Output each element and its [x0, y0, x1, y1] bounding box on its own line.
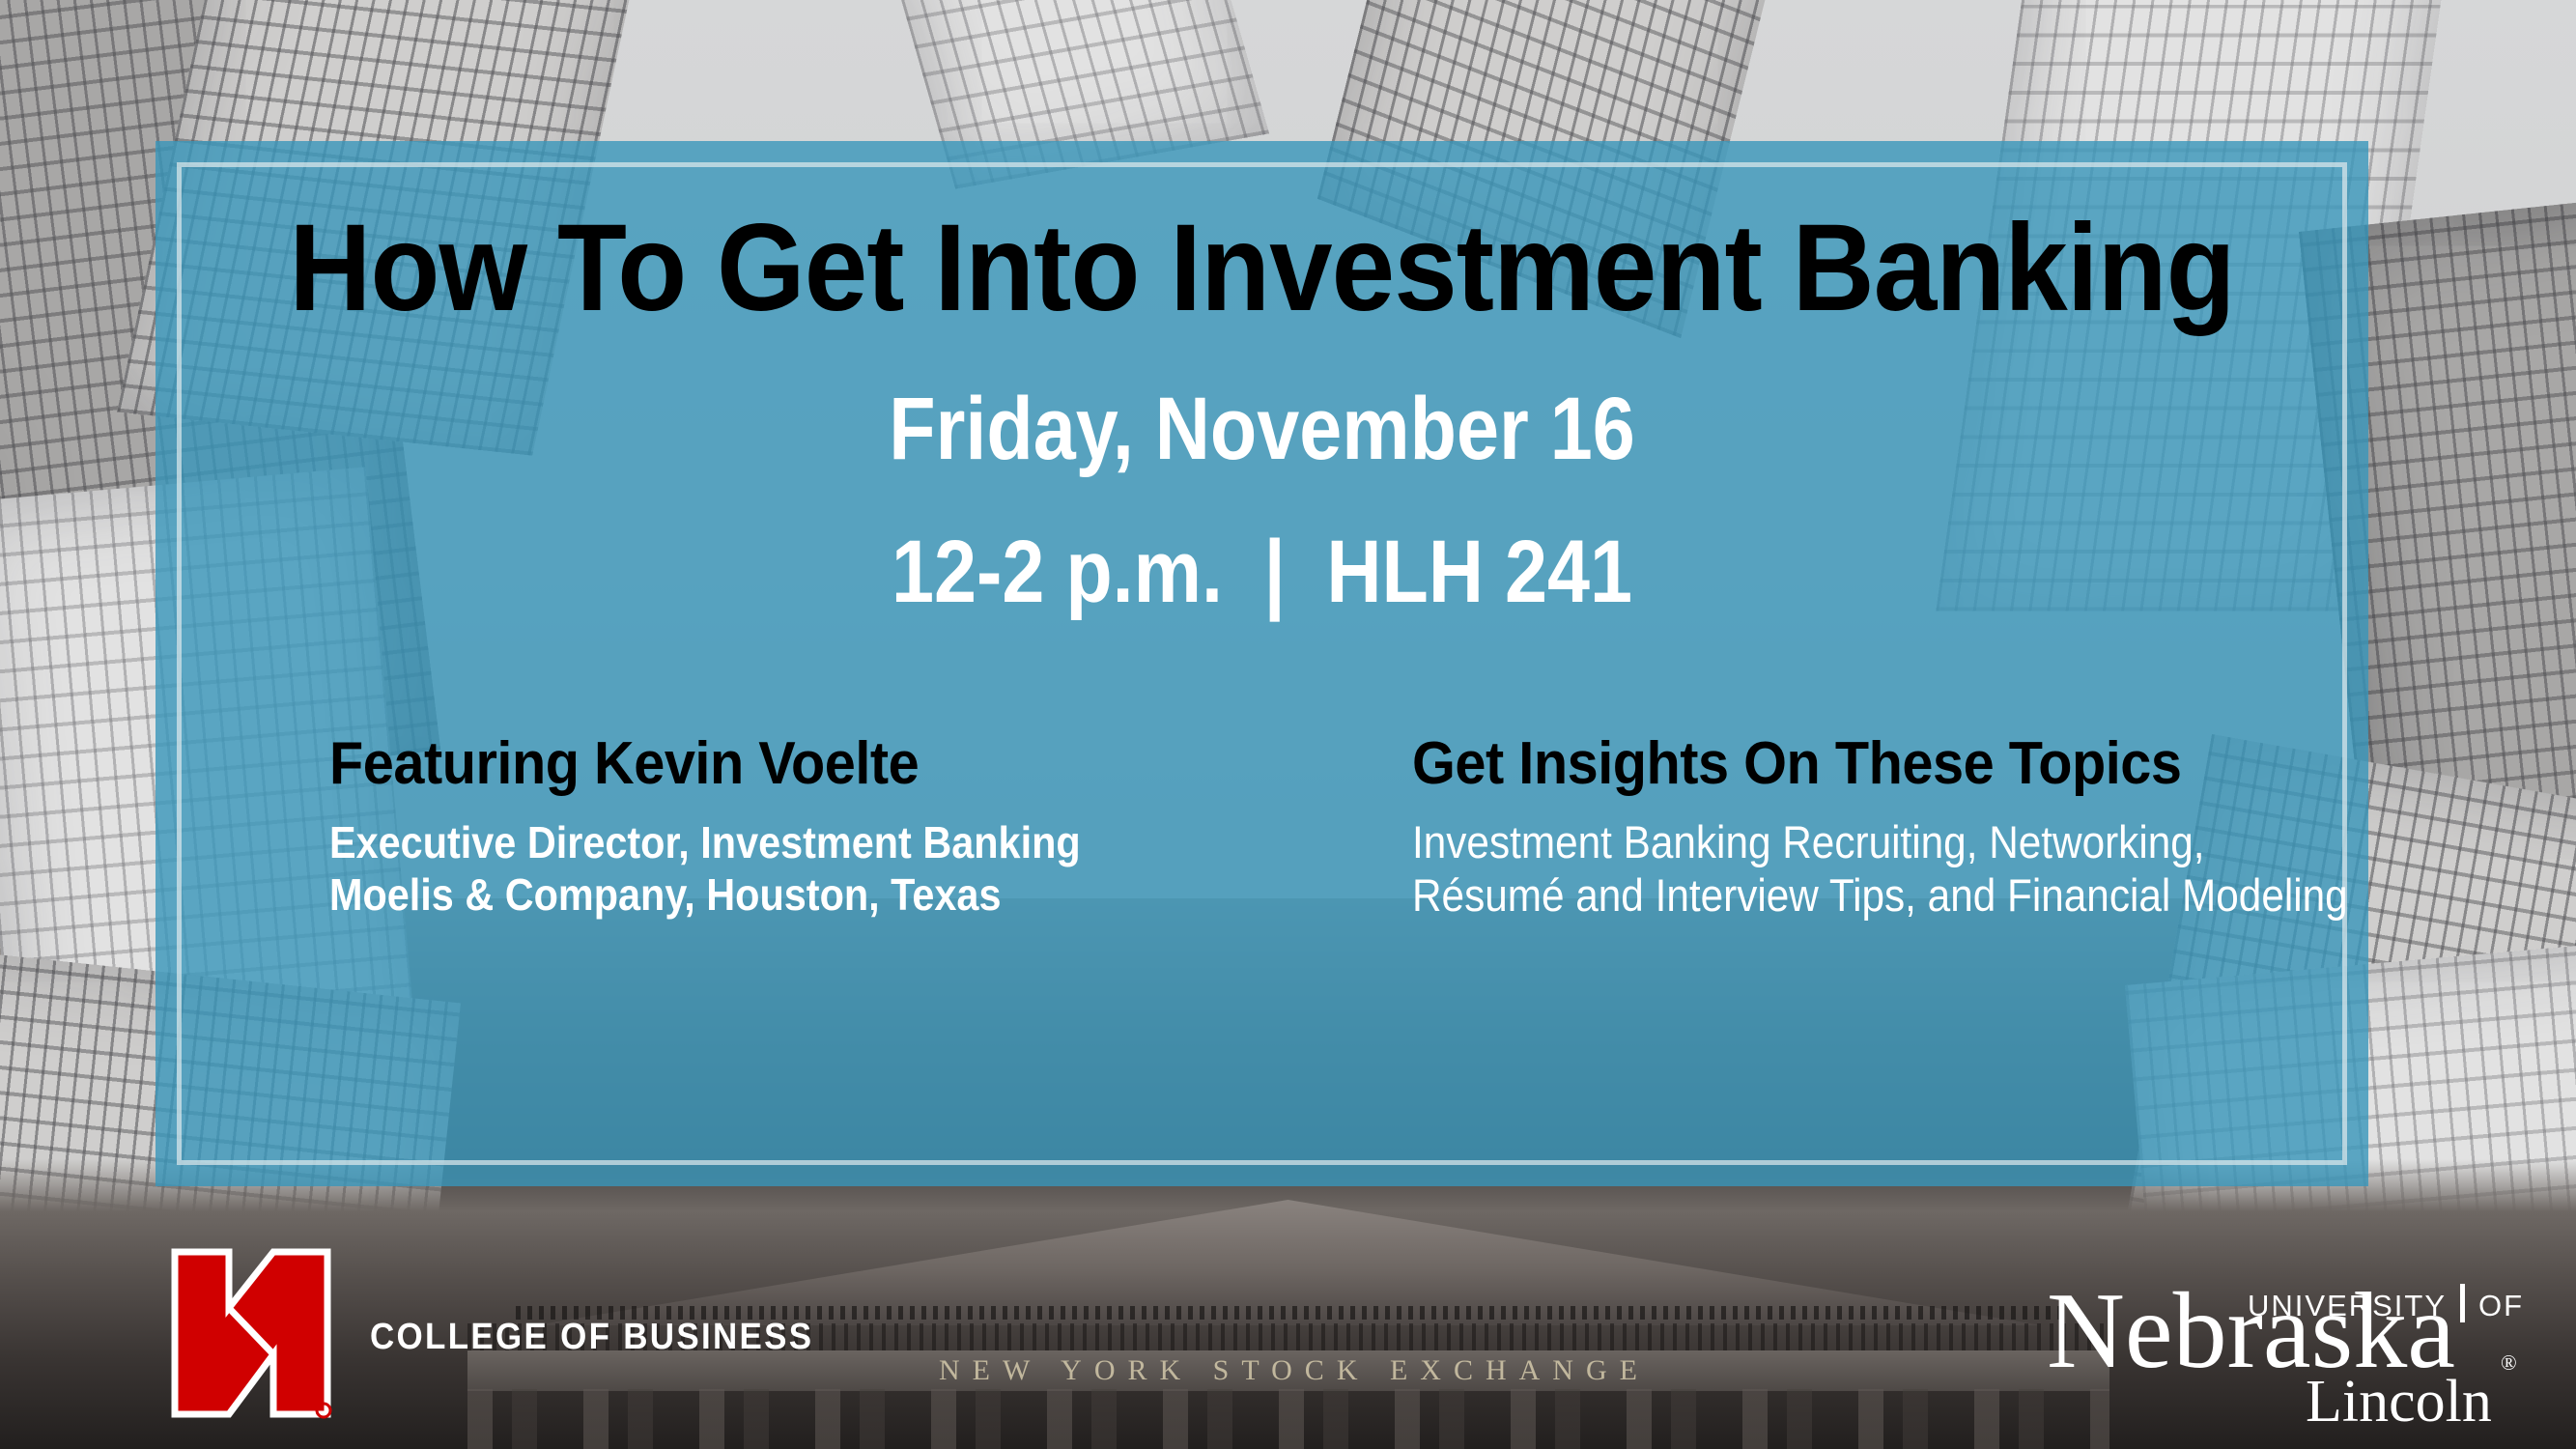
- event-date: Friday, November 16: [310, 384, 2213, 473]
- university-label: UNIVERSITY: [2248, 1289, 2447, 1323]
- topics-column: Get Insights On These Topics Investment …: [1262, 732, 2369, 923]
- topics-heading: Get Insights On These Topics: [1412, 732, 2302, 795]
- nebraska-n-logo: [169, 1246, 333, 1420]
- university-of-line: UNIVERSITY OF: [2248, 1277, 2524, 1323]
- lincoln-wordmark: Lincoln: [2306, 1372, 2492, 1432]
- speaker-column: Featuring Kevin Voelte Executive Directo…: [156, 732, 1262, 923]
- time-room-separator: |: [1244, 523, 1305, 621]
- topics-line-1: Investment Banking Recruiting, Networkin…: [1412, 816, 2273, 869]
- poster-content: How To Get Into Investment Banking Frida…: [156, 141, 2368, 1186]
- event-time-and-room: 12-2 p.m. | HLH 241: [310, 527, 2213, 616]
- wordmark-rule: [2460, 1284, 2465, 1322]
- event-poster: NEW YORK STOCK EXCHANGE How To Get Into …: [0, 0, 2576, 1449]
- speaker-company-line: Moelis & Company, Houston, Texas: [329, 868, 1169, 921]
- of-label: OF: [2478, 1289, 2524, 1323]
- registered-mark: ®: [2501, 1350, 2517, 1376]
- event-time: 12-2 p.m.: [892, 523, 1223, 621]
- topics-line-2: Résumé and Interview Tips, and Financial…: [1412, 869, 2273, 923]
- college-of-business-wordmark: COLLEGE OF BUSINESS: [370, 1317, 813, 1358]
- event-room: HLH 241: [1326, 523, 1632, 621]
- frieze-inscription: NEW YORK STOCK EXCHANGE: [926, 1354, 1650, 1387]
- statuary: [467, 1389, 2109, 1449]
- university-wordmark: Nebraska UNIVERSITY OF ® Lincoln: [2047, 1256, 2549, 1430]
- speaker-heading: Featuring Kevin Voelte: [329, 732, 1197, 795]
- poster-title: How To Get Into Investment Banking: [244, 207, 2280, 330]
- detail-columns: Featuring Kevin Voelte Executive Directo…: [156, 732, 2368, 923]
- speaker-title-line: Executive Director, Investment Banking: [329, 816, 1169, 868]
